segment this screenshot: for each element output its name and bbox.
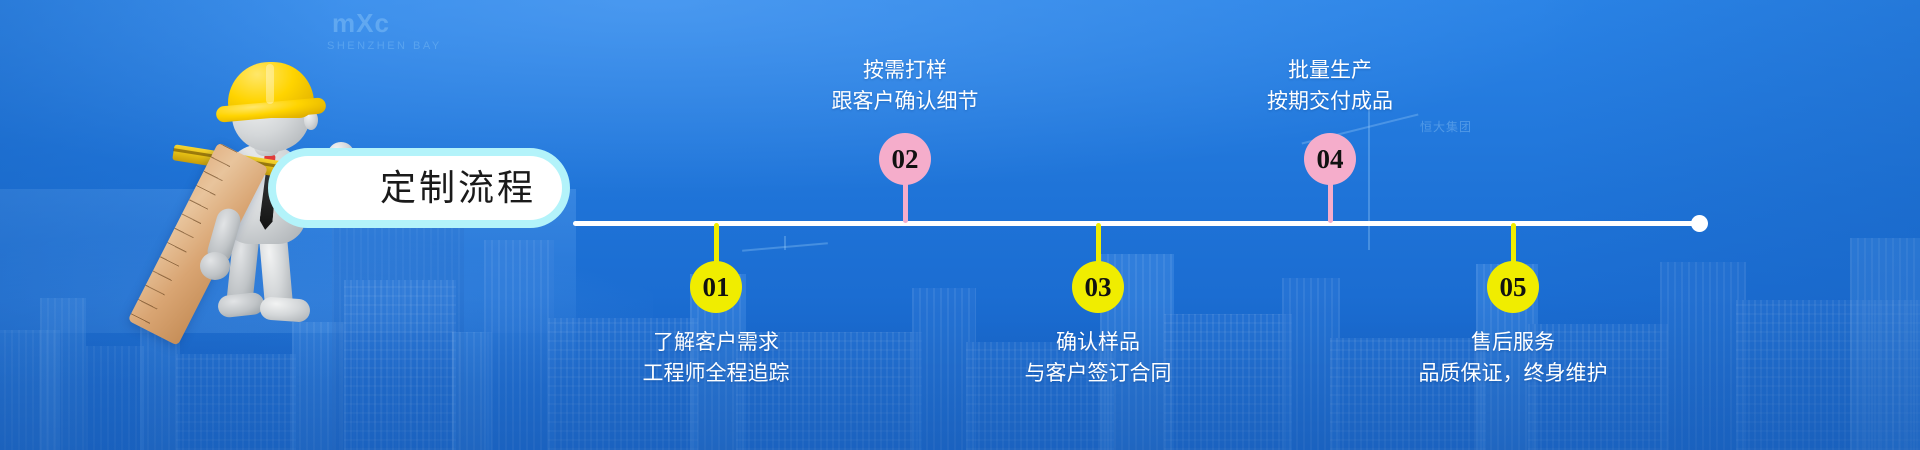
step-caption-line: 工程师全程追踪 [516, 358, 916, 389]
step-number-badge[interactable]: 01 [690, 261, 742, 313]
step-caption-line: 按需打样 [705, 55, 1105, 86]
timeline-end-dot [1691, 215, 1708, 232]
step-stem [1096, 223, 1101, 265]
step-caption-line: 了解客户需求 [516, 327, 916, 358]
step-stem [1511, 223, 1516, 265]
step-number-badge[interactable]: 02 [879, 133, 931, 185]
timeline-track [573, 221, 1701, 226]
step-caption-line: 确认样品 [898, 327, 1298, 358]
step-number-badge[interactable]: 05 [1487, 261, 1539, 313]
step-caption-line: 品质保证，终身维护 [1313, 358, 1713, 389]
step-caption: 售后服务品质保证，终身维护 [1313, 327, 1713, 389]
step-caption-line: 与客户签订合同 [898, 358, 1298, 389]
step-number-badge[interactable]: 04 [1304, 133, 1356, 185]
step-number-badge[interactable]: 03 [1072, 261, 1124, 313]
watermark-right-sign: 恒大集团 [1420, 118, 1472, 135]
step-caption: 确认样品与客户签订合同 [898, 327, 1298, 389]
process-title-pill: 定制流程 [268, 148, 570, 228]
step-stem [1328, 181, 1333, 223]
step-caption-line: 跟客户确认细节 [705, 86, 1105, 117]
step-stem [714, 223, 719, 265]
page-title: 定制流程 [380, 170, 536, 206]
step-stem [903, 181, 908, 223]
watermark-logo-subtitle: SHENZHEN BAY [327, 40, 442, 52]
step-caption: 批量生产按期交付成品 [1130, 55, 1530, 117]
step-caption: 按需打样跟客户确认细节 [705, 55, 1105, 117]
custom-process-banner: mXc SHENZHEN BAY 恒大集团 [0, 0, 1920, 450]
step-caption-line: 售后服务 [1313, 327, 1713, 358]
watermark-logo: mXc [332, 8, 390, 39]
step-caption: 了解客户需求工程师全程追踪 [516, 327, 916, 389]
step-caption-line: 按期交付成品 [1130, 86, 1530, 117]
step-caption-line: 批量生产 [1130, 55, 1530, 86]
